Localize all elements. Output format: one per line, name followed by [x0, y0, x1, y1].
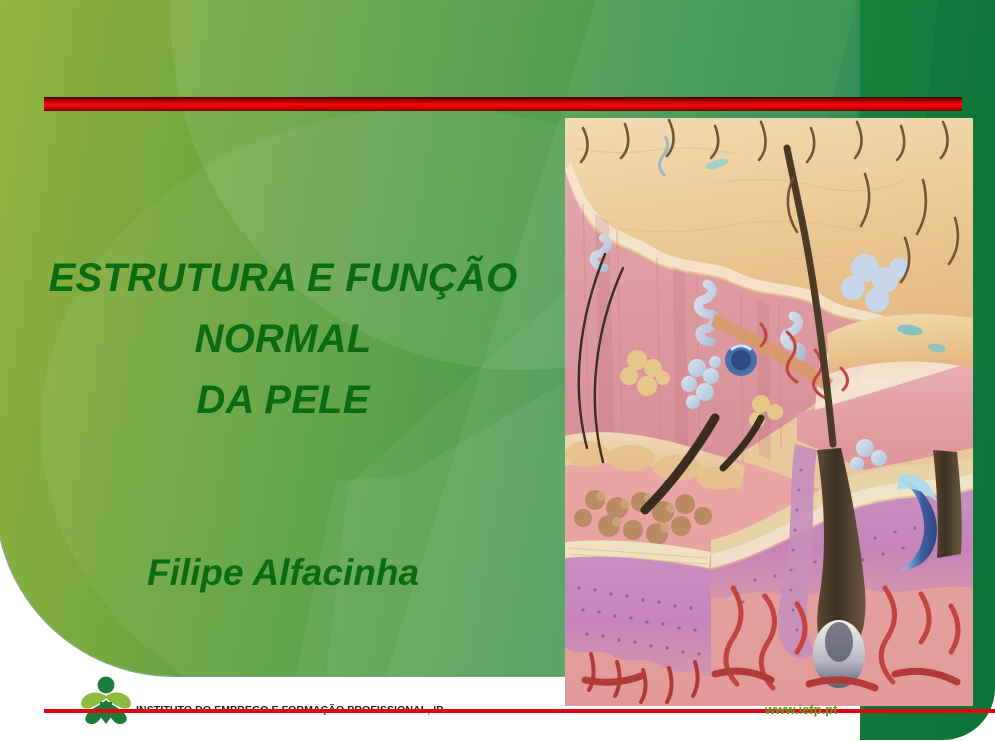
skin-figure-svg [565, 118, 973, 706]
top-accent-rule [44, 97, 962, 111]
iefp-logo-svg [78, 676, 134, 728]
bottom-accent-rule [44, 709, 995, 713]
slide-author: Filipe Alfacinha [22, 552, 544, 594]
logo-head-circle [98, 677, 115, 694]
iefp-logo [78, 676, 134, 728]
footer-website-url[interactable]: www.iefp.pt [765, 702, 837, 717]
slide-title-line-2: NORMAL [22, 309, 544, 370]
slide-title-line-3: DA PELE [22, 370, 544, 431]
skin-cross-section-illustration [565, 118, 973, 706]
slide-title-line-1: ESTRUTURA E FUNÇÃO [22, 248, 544, 309]
presentation-slide: ESTRUTURA E FUNÇÃO NORMAL DA PELE Filipe… [0, 0, 995, 741]
slide-title: ESTRUTURA E FUNÇÃO NORMAL DA PELE [22, 248, 544, 431]
